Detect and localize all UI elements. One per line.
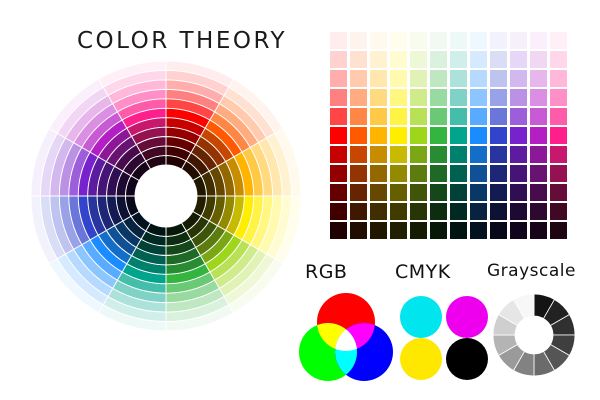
color-swatch	[330, 32, 347, 49]
color-swatch	[490, 222, 507, 239]
color-swatch	[410, 203, 427, 220]
yellow-circle	[400, 338, 442, 380]
color-swatch	[490, 51, 507, 68]
color-swatch	[330, 222, 347, 239]
color-swatch	[450, 32, 467, 49]
color-swatch	[550, 127, 567, 144]
color-swatch	[510, 108, 527, 125]
color-swatch	[370, 127, 387, 144]
color-swatch	[350, 146, 367, 163]
color-swatch	[430, 89, 447, 106]
color-swatch	[370, 146, 387, 163]
color-swatch	[370, 184, 387, 201]
color-swatch	[430, 70, 447, 87]
color-swatch	[330, 108, 347, 125]
color-swatch	[370, 89, 387, 106]
color-swatch	[550, 146, 567, 163]
color-swatch	[510, 222, 527, 239]
color-swatch	[430, 165, 447, 182]
color-swatch	[530, 108, 547, 125]
color-swatch	[550, 89, 567, 106]
color-swatch	[370, 51, 387, 68]
color-swatch	[510, 127, 527, 144]
color-swatch	[490, 32, 507, 49]
magenta-circle	[446, 296, 488, 338]
cmyk-label: CMYK	[395, 261, 451, 283]
infographic-canvas: COLOR THEORY RGB CMYK Grayscale	[0, 0, 600, 400]
swatch-grid	[330, 32, 567, 239]
color-swatch	[410, 184, 427, 201]
color-swatch	[490, 184, 507, 201]
color-swatch	[330, 70, 347, 87]
color-swatch	[350, 89, 367, 106]
color-swatch	[430, 51, 447, 68]
color-swatch	[390, 32, 407, 49]
color-swatch	[410, 146, 427, 163]
cmyk-diagram-svg	[398, 294, 490, 382]
color-swatch	[430, 184, 447, 201]
color-swatch	[330, 184, 347, 201]
color-swatch	[410, 108, 427, 125]
color-swatch	[470, 146, 487, 163]
color-swatch	[350, 127, 367, 144]
color-swatch	[490, 70, 507, 87]
color-swatch	[370, 165, 387, 182]
color-swatch	[390, 146, 407, 163]
color-swatch	[510, 70, 527, 87]
rgb-diagram-svg	[296, 292, 396, 384]
color-swatch	[550, 108, 567, 125]
color-swatch	[330, 203, 347, 220]
color-swatch	[390, 70, 407, 87]
color-swatch	[330, 165, 347, 182]
color-swatch	[410, 222, 427, 239]
color-swatch	[550, 222, 567, 239]
color-swatch	[450, 70, 467, 87]
color-swatch	[330, 127, 347, 144]
grayscale-diagram	[492, 292, 578, 380]
color-swatch	[550, 203, 567, 220]
color-swatch	[470, 108, 487, 125]
color-swatch	[450, 51, 467, 68]
color-swatch	[450, 184, 467, 201]
rgb-label: RGB	[305, 261, 347, 283]
color-swatch	[390, 51, 407, 68]
color-swatch	[410, 51, 427, 68]
color-swatch	[530, 203, 547, 220]
color-swatch	[470, 89, 487, 106]
color-swatch	[350, 32, 367, 49]
color-swatch	[450, 89, 467, 106]
color-wheel-svg	[30, 60, 302, 332]
color-swatch	[470, 32, 487, 49]
wheel-center-hole	[135, 165, 197, 227]
color-swatch	[550, 184, 567, 201]
color-swatch	[510, 32, 527, 49]
color-swatch	[330, 51, 347, 68]
color-wheel	[30, 60, 302, 332]
color-swatch	[430, 32, 447, 49]
color-swatch	[390, 127, 407, 144]
color-swatch	[510, 146, 527, 163]
color-swatch	[530, 127, 547, 144]
rgb-diagram	[296, 292, 396, 384]
black-circle	[446, 338, 488, 380]
color-swatch	[470, 51, 487, 68]
color-swatch	[530, 146, 547, 163]
color-swatch	[330, 89, 347, 106]
color-swatch	[550, 165, 567, 182]
color-swatch	[510, 184, 527, 201]
color-swatch	[390, 203, 407, 220]
color-swatch	[410, 89, 427, 106]
color-swatch	[330, 146, 347, 163]
color-swatch	[350, 222, 367, 239]
color-swatch	[490, 146, 507, 163]
color-swatch	[410, 32, 427, 49]
color-swatch	[430, 146, 447, 163]
color-swatch	[450, 127, 467, 144]
color-swatch	[470, 70, 487, 87]
color-swatch	[450, 146, 467, 163]
color-swatch	[530, 51, 547, 68]
color-swatch	[390, 184, 407, 201]
color-swatch	[350, 165, 367, 182]
color-swatch	[370, 32, 387, 49]
color-swatch	[530, 222, 547, 239]
color-swatch	[470, 127, 487, 144]
color-swatch	[390, 222, 407, 239]
color-swatch	[430, 203, 447, 220]
color-swatch	[410, 165, 427, 182]
color-swatch	[450, 222, 467, 239]
color-swatch	[430, 108, 447, 125]
cmyk-diagram	[398, 294, 490, 382]
color-swatch	[490, 89, 507, 106]
color-swatch	[490, 108, 507, 125]
color-swatch	[530, 32, 547, 49]
color-swatch	[390, 108, 407, 125]
grayscale-label: Grayscale	[487, 261, 576, 281]
color-swatch	[370, 108, 387, 125]
color-swatch	[550, 70, 567, 87]
color-swatch	[390, 89, 407, 106]
color-swatch	[490, 203, 507, 220]
color-swatch	[530, 184, 547, 201]
color-swatch	[370, 222, 387, 239]
color-swatch	[510, 51, 527, 68]
color-swatch	[490, 127, 507, 144]
color-swatch	[470, 184, 487, 201]
color-swatch	[510, 165, 527, 182]
color-swatch	[470, 222, 487, 239]
cyan-circle	[400, 296, 442, 338]
color-swatch	[370, 203, 387, 220]
color-swatch	[550, 32, 567, 49]
color-swatch	[350, 184, 367, 201]
color-swatch	[350, 70, 367, 87]
color-swatch	[450, 165, 467, 182]
color-swatch	[350, 51, 367, 68]
color-swatch	[350, 108, 367, 125]
color-swatch	[530, 165, 547, 182]
color-swatch	[450, 203, 467, 220]
color-swatch	[370, 70, 387, 87]
color-swatch	[410, 127, 427, 144]
color-swatch	[470, 203, 487, 220]
color-swatch	[530, 89, 547, 106]
color-swatch	[430, 222, 447, 239]
color-swatch	[530, 70, 547, 87]
color-swatch	[490, 165, 507, 182]
color-swatch	[430, 127, 447, 144]
color-swatch	[410, 70, 427, 87]
color-swatch	[510, 89, 527, 106]
color-swatch	[350, 203, 367, 220]
color-swatch	[550, 51, 567, 68]
page-title: COLOR THEORY	[62, 28, 302, 54]
color-swatch	[450, 108, 467, 125]
color-swatch	[470, 165, 487, 182]
color-swatch	[390, 165, 407, 182]
color-swatch	[510, 203, 527, 220]
grayscale-diagram-svg	[492, 292, 578, 380]
